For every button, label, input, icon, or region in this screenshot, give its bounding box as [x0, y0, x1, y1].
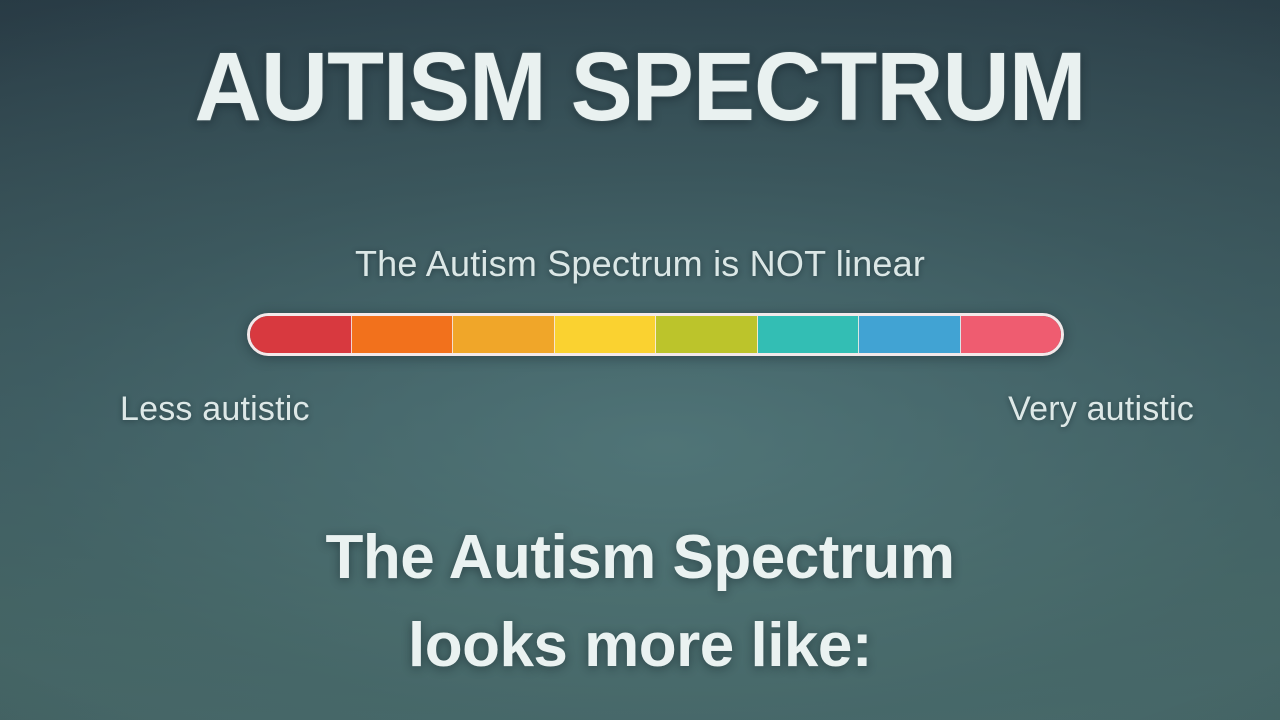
segment-teal	[758, 316, 860, 353]
scale-label-right: Very autistic	[1008, 390, 1194, 429]
segment-orange	[352, 316, 454, 353]
slide-canvas: AUTISM SPECTRUM The Autism Spectrum is N…	[0, 0, 1280, 720]
subtitle-text: The Autism Spectrum is NOT linear	[0, 243, 1280, 285]
segment-yellow	[555, 316, 657, 353]
headline-line-2: looks more like:	[0, 615, 1280, 677]
scale-label-left: Less autistic	[120, 390, 310, 429]
segment-amber	[453, 316, 555, 353]
spectrum-bar	[247, 313, 1064, 356]
segment-red	[250, 316, 352, 353]
headline-line-1: The Autism Spectrum	[0, 527, 1280, 589]
segment-yellowgreen	[656, 316, 758, 353]
segment-pink	[961, 316, 1062, 353]
page-title: AUTISM SPECTRUM	[26, 38, 1255, 135]
segment-blue	[859, 316, 961, 353]
